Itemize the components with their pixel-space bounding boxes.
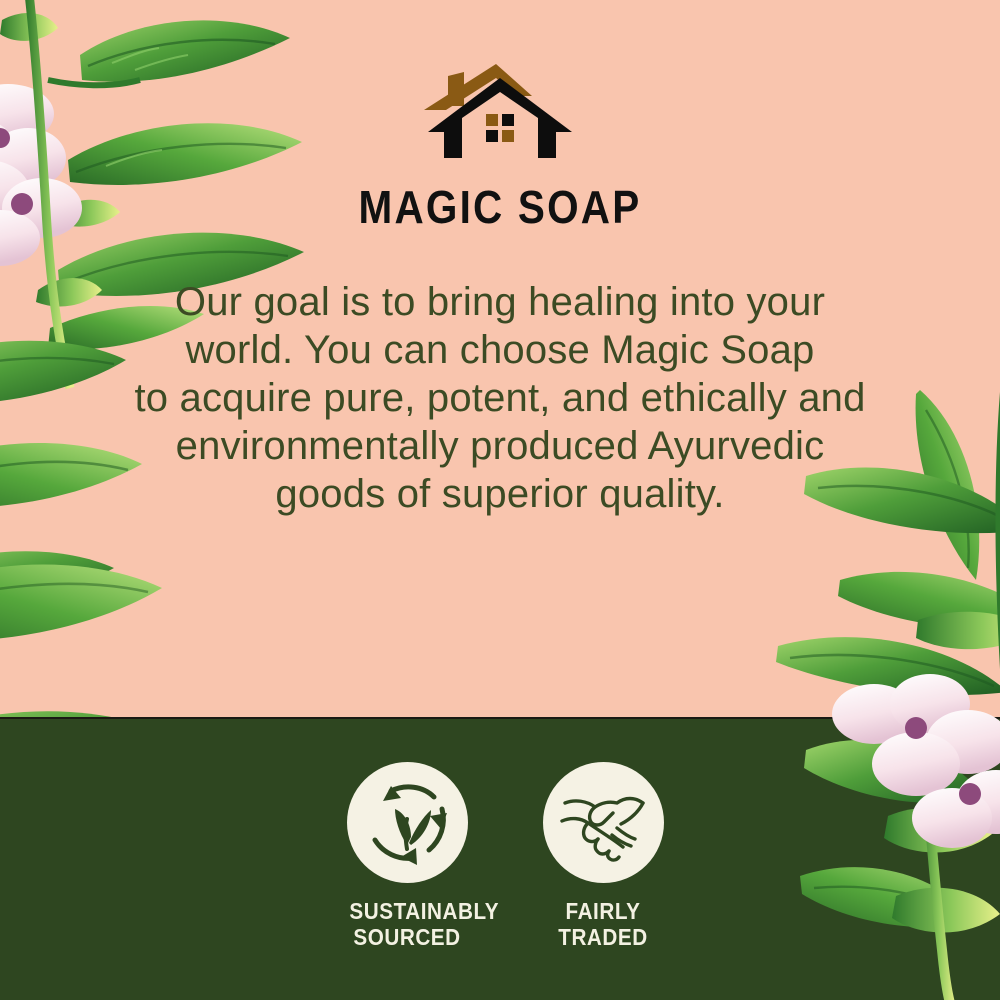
recycle-leaf-icon — [361, 777, 453, 869]
poster-canvas: MAGIC SOAP Our goal is to bring healing … — [0, 0, 1000, 1000]
badge-label-line-2: TRADED — [545, 924, 660, 950]
mission-line-5: goods of superior quality. — [80, 470, 920, 518]
badge-label-line-2: SOURCED — [349, 924, 464, 950]
mission-line-3: to acquire pure, potent, and ethically a… — [80, 374, 920, 422]
badge-disc-sustainably-sourced — [347, 762, 468, 883]
mission-line-1: Our goal is to bring healing into your — [80, 278, 920, 326]
house-logo-icon — [410, 62, 590, 166]
badge-sustainably-sourced: SUSTAINABLY SOURCED — [343, 762, 471, 950]
badge-label-line-1: FAIRLY — [545, 898, 660, 924]
mission-line-4: environmentally produced Ayurvedic — [80, 422, 920, 470]
badge-label-fairly-traded: FAIRLY TRADED — [545, 898, 660, 950]
mission-line-2: world. You can choose Magic Soap — [80, 326, 920, 374]
certification-badge-row: SUSTAINABLY SOURCED — [310, 762, 700, 950]
brand-name: MAGIC SOAP — [60, 184, 940, 230]
badge-fairly-traded: FAIRLY TRADED — [539, 762, 667, 950]
badge-label-sustainably-sourced: SUSTAINABLY SOURCED — [349, 898, 464, 950]
badge-disc-fairly-traded — [543, 762, 664, 883]
handshake-icon — [557, 777, 649, 869]
mission-statement: Our goal is to bring healing into your w… — [80, 278, 920, 518]
badge-label-line-1: SUSTAINABLY — [349, 898, 464, 924]
logo-block: MAGIC SOAP — [0, 62, 1000, 230]
